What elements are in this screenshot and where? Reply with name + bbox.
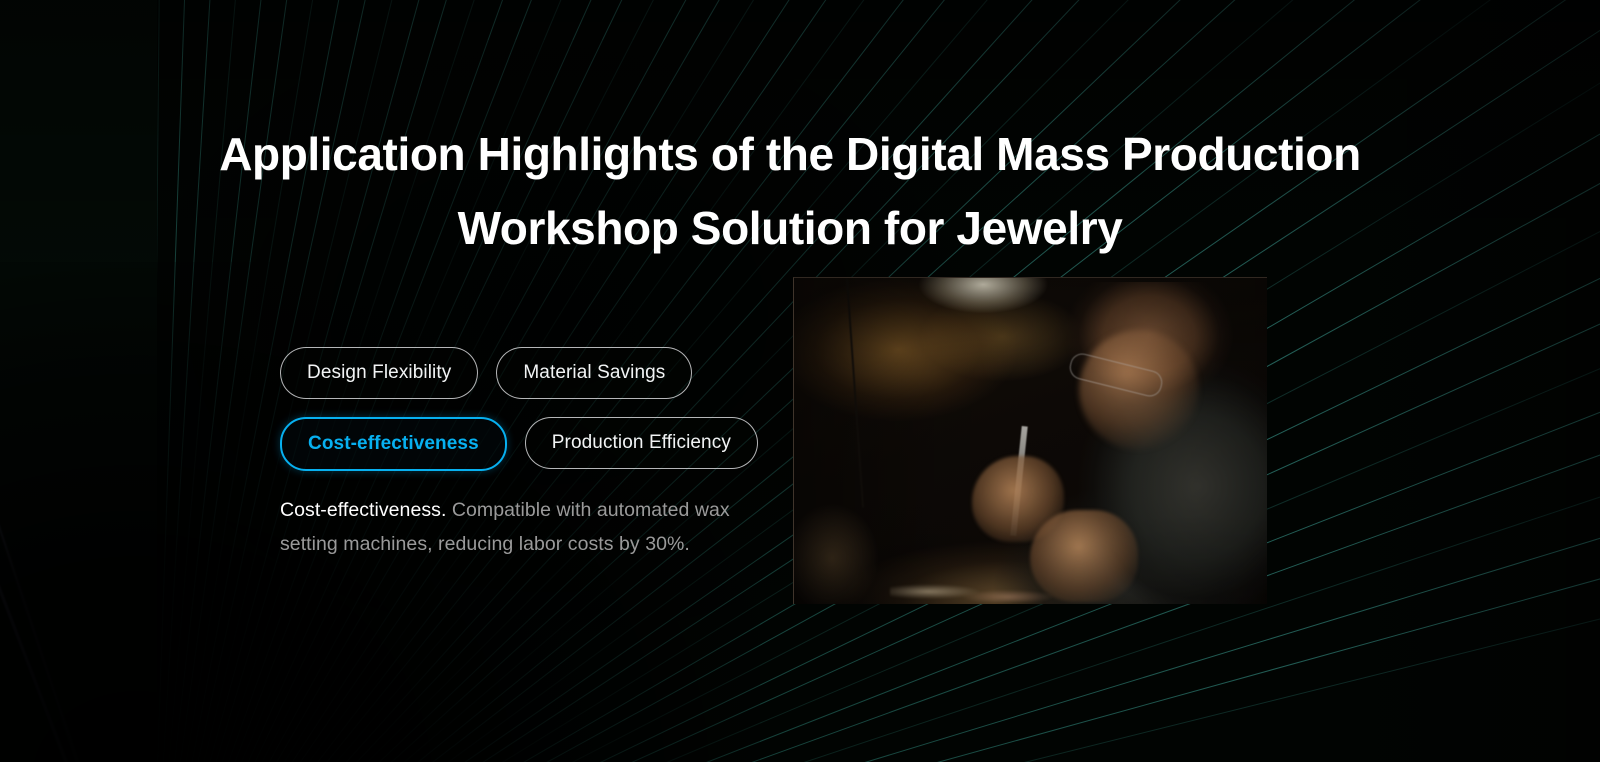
hero-section: Application Highlights of the Digital Ma… [0, 0, 1600, 762]
hero-content: Application Highlights of the Digital Ma… [0, 0, 1600, 762]
description-lead: Cost-effectiveness. [280, 499, 446, 521]
tab-cost-effectiveness[interactable]: Cost-effectiveness [280, 417, 507, 471]
tab-row-1: Design Flexibility Material Savings [280, 347, 750, 399]
photo-shading-overlay [794, 278, 1267, 604]
jeweler-photo [793, 277, 1267, 604]
highlights-panel: Design Flexibility Material Savings Cost… [280, 347, 750, 581]
highlight-description: Cost-effectiveness. Compatible with auto… [280, 493, 758, 561]
page-title: Application Highlights of the Digital Ma… [180, 117, 1400, 265]
tab-design-flexibility[interactable]: Design Flexibility [280, 347, 478, 399]
tab-row-2: Cost-effectiveness Production Efficiency [280, 417, 750, 471]
tab-production-efficiency[interactable]: Production Efficiency [525, 417, 758, 469]
tab-material-savings[interactable]: Material Savings [496, 347, 692, 399]
photo-canvas [794, 278, 1267, 604]
